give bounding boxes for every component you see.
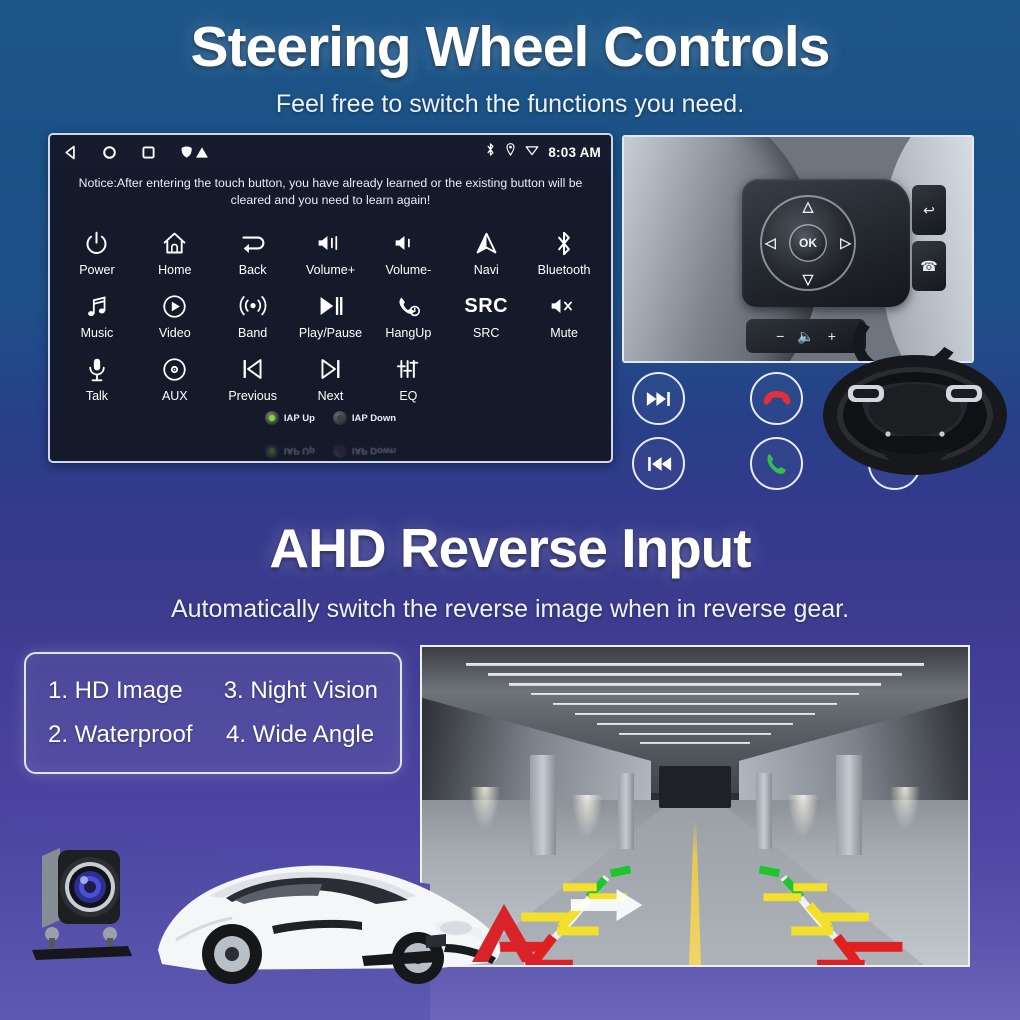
home-circle-icon[interactable] (101, 144, 118, 161)
ok-button-label: OK (789, 224, 827, 262)
answer-phone-icon (764, 451, 789, 476)
section2-header: AHD Reverse Input AHD Reverse Input (0, 520, 1020, 600)
feature-item: 3. Night Vision (224, 669, 378, 713)
radio-label: IAP Up (284, 413, 315, 424)
feature-row: 1. HD Image 3. Night Vision (48, 669, 378, 713)
button-src[interactable]: SRC SRC (447, 283, 525, 346)
music-note-icon (58, 289, 136, 323)
radio-iap-up[interactable]: IAP Up (265, 411, 315, 425)
button-row: Talk AUX Previous (58, 346, 603, 409)
button-label: HangUp (369, 326, 447, 340)
iap-radio-group[interactable]: IAP Up IAP Down (58, 411, 603, 433)
src-text-icon: SRC (447, 289, 525, 323)
button-bluetooth[interactable]: Bluetooth (525, 220, 603, 283)
radio-dot-icon (265, 411, 279, 425)
button-back[interactable]: Back (214, 220, 292, 283)
bluetooth-icon (525, 226, 603, 260)
button-band[interactable]: Band (214, 283, 292, 346)
button-volume-down[interactable]: Volume- (369, 220, 447, 283)
red-graphic-accent (470, 900, 540, 964)
button-label: Volume+ (292, 263, 370, 277)
answer-call-button[interactable] (750, 437, 803, 490)
android-nav-buttons[interactable] (62, 144, 213, 161)
white-car-image (140, 838, 510, 988)
button-row: Power Home Back (58, 220, 603, 283)
section1-subtitle: Feel free to switch the functions you ne… (0, 90, 1020, 119)
steering-wheel-photo: △ ▽ ◁ ▷ OK ↩ ☎ − 🔈 + (622, 135, 974, 363)
location-pin-icon (505, 142, 516, 162)
status-clock: 8:03 AM (548, 145, 601, 160)
navigation-icon (447, 226, 525, 260)
button-empty (525, 346, 603, 409)
src-glyph-text: SRC (464, 295, 508, 318)
dpad-control: △ ▽ ◁ ▷ OK (760, 195, 856, 291)
phone-icon: ☎ (912, 241, 946, 291)
page-title: Steering Wheel Controls (0, 18, 1020, 78)
button-label: Previous (214, 389, 292, 403)
previous-track-button[interactable] (632, 437, 685, 490)
chevron-right-icon: ▷ (840, 235, 851, 252)
button-label: AUX (136, 389, 214, 403)
back-triangle-icon[interactable] (62, 144, 79, 161)
feature-item: 4. Wide Angle (226, 713, 374, 757)
aux-disc-icon (136, 352, 214, 386)
button-label: Back (214, 263, 292, 277)
button-row: Music Video Band (58, 283, 603, 346)
button-music[interactable]: Music (58, 283, 136, 346)
head-unit-screen[interactable]: 8:03 AM Notice:After entering the touch … (48, 133, 613, 463)
button-label: EQ (369, 389, 447, 403)
section1-header: Steering Wheel Controls Steering Wheel C… (0, 18, 1020, 100)
radio-wave-icon (214, 289, 292, 323)
speaker-icon: 🔈 (797, 328, 814, 345)
button-label: Navi (447, 263, 525, 277)
next-track-icon (292, 352, 370, 386)
section2-title: AHD Reverse Input (0, 520, 1020, 578)
button-label: Next (292, 389, 370, 403)
button-label: Play/Pause (292, 326, 370, 340)
play-pause-icon (292, 289, 370, 323)
feature-list-box: 1. HD Image 3. Night Vision 2. Waterproo… (24, 652, 402, 774)
button-mute[interactable]: Mute (525, 283, 603, 346)
feature-item: 2. Waterproof (48, 713, 226, 757)
button-aux[interactable]: AUX (136, 346, 214, 409)
wifi-icon (525, 143, 539, 161)
hangup-phone-icon (762, 389, 792, 409)
play-circle-icon (136, 289, 214, 323)
previous-track-icon (646, 455, 672, 473)
section2-subtitle: Automatically switch the reverse image w… (0, 595, 1020, 624)
volume-down-icon (369, 226, 447, 260)
button-next[interactable]: Next (292, 346, 370, 409)
button-play-pause[interactable]: Play/Pause (292, 283, 370, 346)
power-icon (58, 226, 136, 260)
steering-wheel-control-pad: △ ▽ ◁ ▷ OK ↩ ☎ (742, 179, 910, 307)
radio-label: IAP Down (352, 413, 396, 424)
volume-rocker: − 🔈 + (746, 319, 866, 353)
button-previous[interactable]: Previous (214, 346, 292, 409)
back-arrow-icon (214, 226, 292, 260)
button-empty (447, 346, 525, 409)
system-status-icons: 8:03 AM (485, 142, 601, 162)
hangup-phone-icon (369, 289, 447, 323)
equalizer-icon (369, 352, 447, 386)
button-label: SRC (447, 326, 525, 340)
button-video[interactable]: Video (136, 283, 214, 346)
mute-icon (525, 289, 603, 323)
button-navi[interactable]: Navi (447, 220, 525, 283)
next-track-button[interactable] (632, 372, 685, 425)
shield-warning-icons[interactable] (179, 144, 213, 161)
notice-text: Notice:After entering the touch button, … (50, 169, 611, 210)
button-volume-up[interactable]: Volume+ (292, 220, 370, 283)
radio-dot-icon (333, 411, 347, 425)
hang-up-button[interactable] (750, 372, 803, 425)
section1-subtitle-wrap: Feel free to switch the functions you ne… (0, 90, 1020, 119)
chevron-down-icon: ▽ (803, 271, 814, 288)
bluetooth-icon (485, 142, 496, 162)
next-track-icon (646, 390, 672, 408)
button-power[interactable]: Power (58, 220, 136, 283)
backup-camera-module (28, 842, 140, 962)
section2-subtitle-wrap: Automatically switch the reverse image w… (0, 595, 1020, 624)
button-home[interactable]: Home (136, 220, 214, 283)
microphone-icon (58, 352, 136, 386)
button-hangup[interactable]: HangUp (369, 283, 447, 346)
button-talk[interactable]: Talk (58, 346, 136, 409)
steering-wheel-graphic (820, 352, 1010, 478)
return-arrow-icon: ↩ (912, 185, 946, 235)
button-label: Music (58, 326, 136, 340)
chevron-up-icon: △ (803, 198, 814, 215)
button-label: Volume- (369, 263, 447, 277)
status-bar: 8:03 AM (50, 135, 611, 169)
button-label: Mute (525, 326, 603, 340)
volume-up-icon (292, 226, 370, 260)
previous-track-icon (214, 352, 292, 386)
feature-row: 2. Waterproof 4. Wide Angle (48, 713, 378, 757)
recents-square-icon[interactable] (140, 144, 157, 161)
button-eq[interactable]: EQ (369, 346, 447, 409)
plus-icon: + (828, 328, 836, 344)
button-label: Video (136, 326, 214, 340)
chevron-left-icon: ◁ (765, 235, 776, 252)
radio-iap-down[interactable]: IAP Down (333, 411, 396, 425)
function-button-grid: Power Home Back (50, 210, 611, 433)
button-label: Talk (58, 389, 136, 403)
button-label: Band (214, 326, 292, 340)
button-label: Home (136, 263, 214, 277)
promo-page: Steering Wheel Controls Steering Wheel C… (0, 0, 1020, 1020)
button-label: Bluetooth (525, 263, 603, 277)
home-icon (136, 226, 214, 260)
button-label: Power (58, 263, 136, 277)
minus-icon: − (776, 328, 784, 344)
feature-item: 1. HD Image (48, 669, 224, 713)
